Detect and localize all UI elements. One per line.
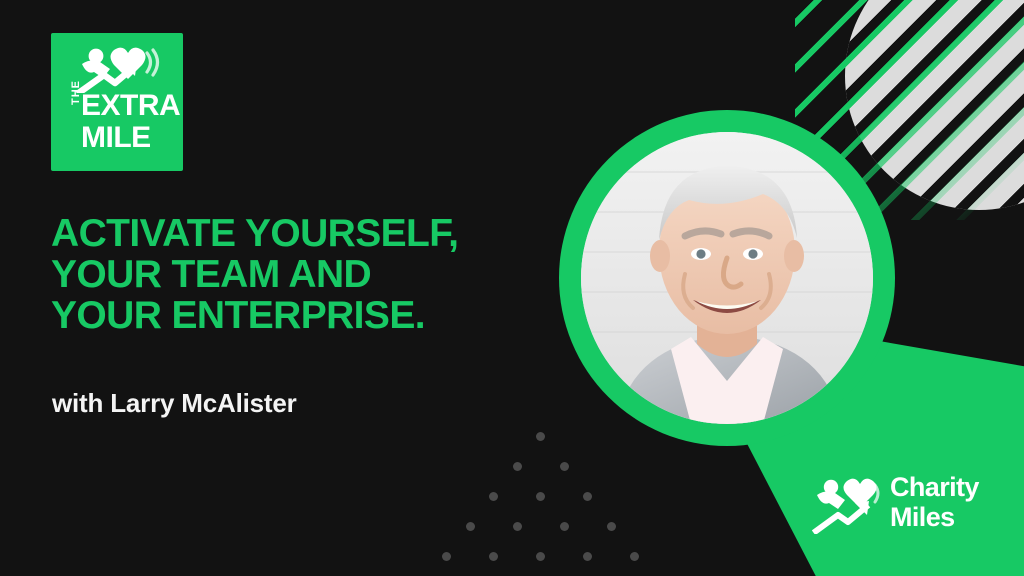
brand-wordmark: Charity Miles	[890, 472, 979, 532]
show-logo: THE EXTRA MILE	[51, 33, 183, 171]
guest-credit: with Larry McAlister	[52, 388, 297, 419]
brand-wordmark-line-2: Miles	[890, 502, 979, 532]
dot	[536, 552, 545, 561]
show-logo-wordmark: THE EXTRA MILE	[51, 91, 183, 167]
dot	[583, 552, 592, 561]
guest-photo	[581, 132, 873, 424]
dot	[536, 432, 545, 441]
dot	[536, 492, 545, 501]
episode-title-line-3: YOUR ENTERPRISE.	[51, 295, 531, 336]
dot	[630, 552, 639, 561]
brand-logo: Charity Miles	[812, 470, 992, 542]
dot	[513, 522, 522, 531]
dot	[466, 522, 475, 531]
dot	[489, 492, 498, 501]
show-logo-mile: MILE	[81, 123, 151, 153]
dot	[442, 552, 451, 561]
dot	[607, 522, 616, 531]
show-logo-extra: EXTRA	[81, 91, 180, 121]
runner-heart-arrow-icon	[812, 476, 884, 534]
dot	[583, 492, 592, 501]
episode-title-line-2: YOUR TEAM AND	[51, 254, 531, 295]
episode-title: ACTIVATE YOURSELF, YOUR TEAM AND YOUR EN…	[51, 213, 531, 336]
dot	[560, 462, 569, 471]
dot	[513, 462, 522, 471]
dot	[489, 552, 498, 561]
brand-wordmark-line-1: Charity	[890, 472, 979, 502]
dot	[560, 522, 569, 531]
episode-cover-canvas: THE EXTRA MILE ACTIVATE YOURSELF, YOUR T…	[0, 0, 1024, 576]
runner-heart-arrow-icon	[74, 47, 160, 93]
guest-portrait-circle	[559, 110, 895, 446]
episode-title-line-1: ACTIVATE YOURSELF,	[51, 213, 531, 254]
dot-grid-decoration	[390, 425, 640, 576]
